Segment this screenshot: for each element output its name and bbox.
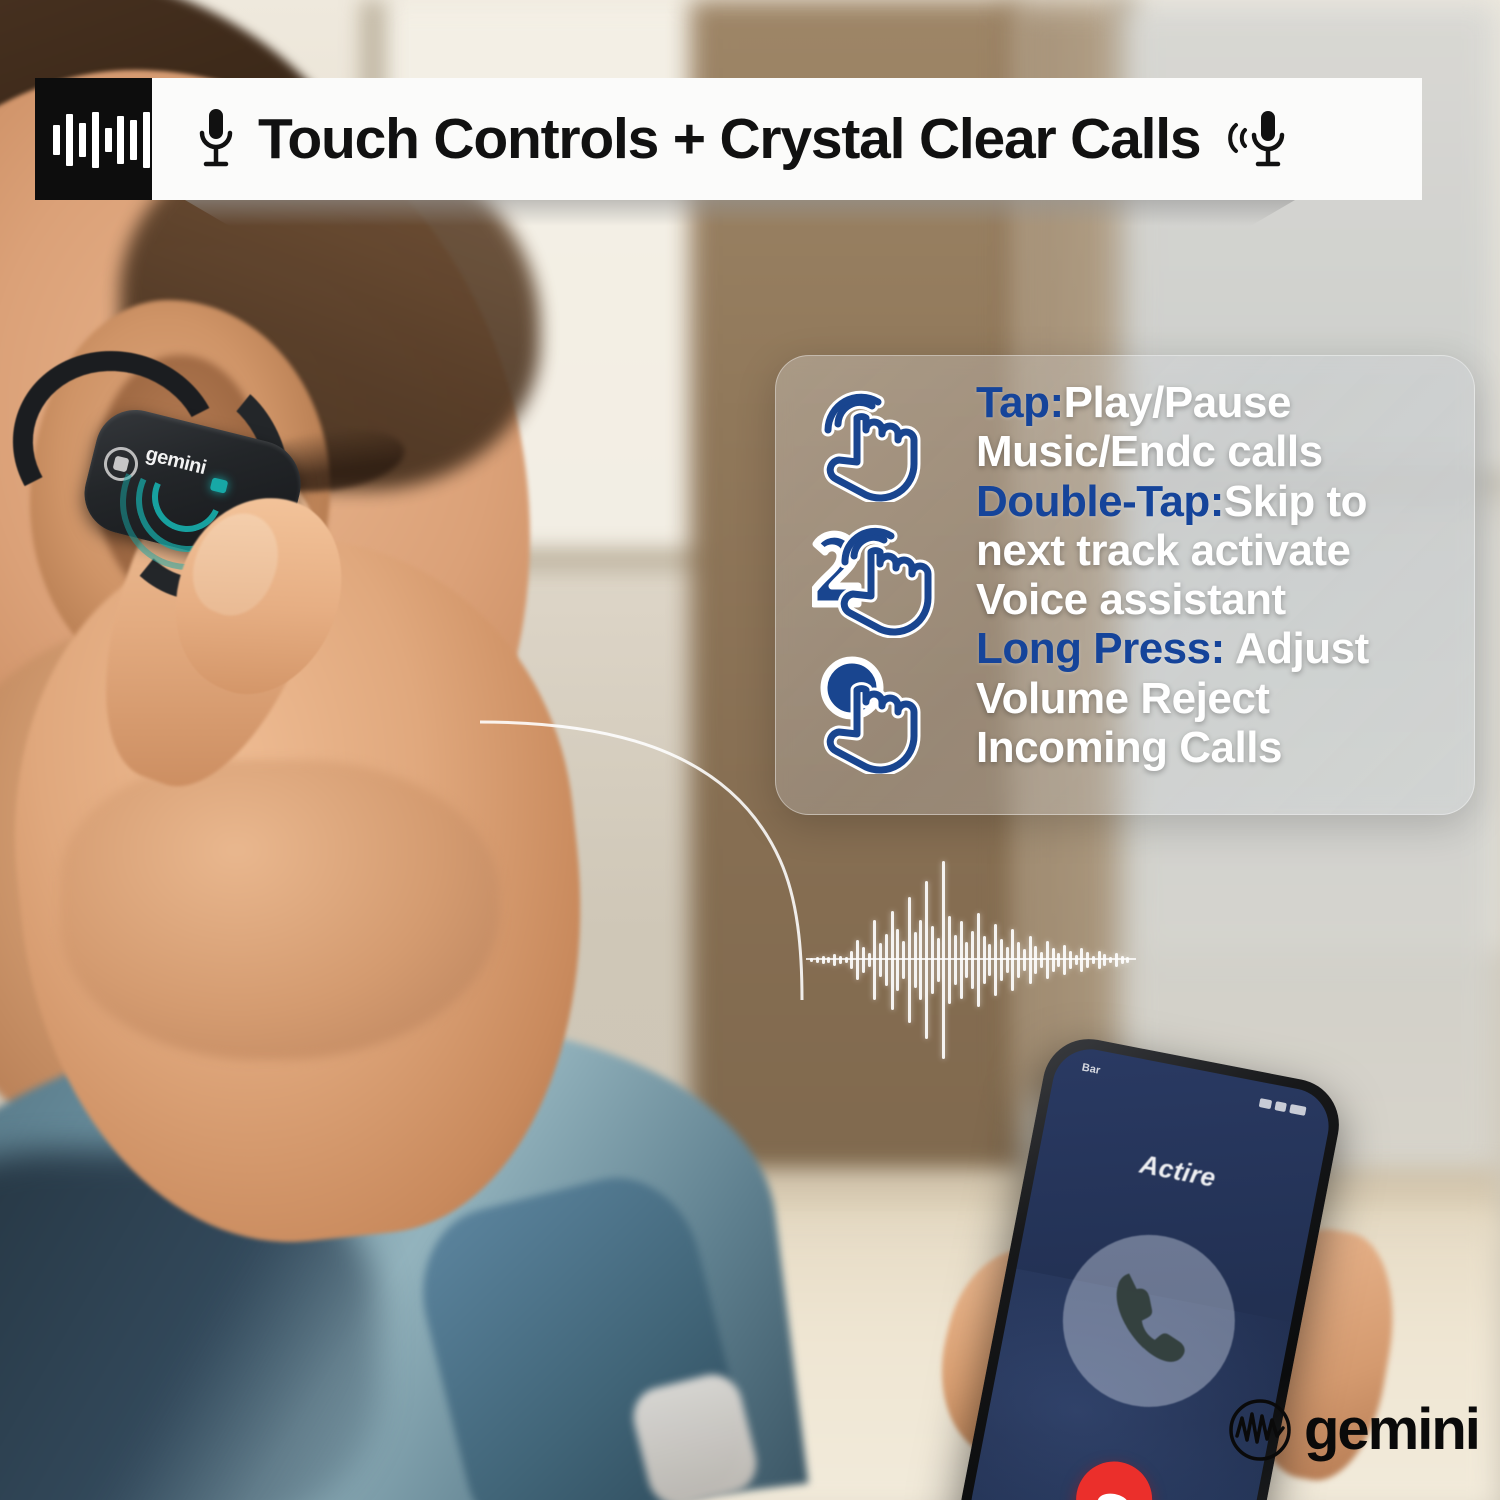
touch-control-label: Long Press: [976,624,1225,673]
waveform-bar [879,943,882,977]
waveform-bar [1011,929,1014,991]
waveform-bar [1000,939,1003,981]
end-call-icon [1088,1474,1140,1500]
equalizer-bars-icon [53,112,163,168]
waveform-bar [833,954,836,966]
banner-title: Touch Controls + Crystal Clear Calls [258,106,1200,172]
touch-control-line: Long Press: Adjust [976,624,1452,673]
brand-name: gemini [1304,1401,1479,1459]
waveform-bar [856,940,859,980]
waveform-bar [925,881,928,1039]
touch-control-text: Play/Pause [1064,378,1291,427]
waveform-bar [868,953,871,966]
waveform-bar [977,913,980,1007]
waveform-bar [845,957,848,962]
touch-control-text: Voice assistant [976,575,1286,624]
waveform-bar [1029,936,1032,985]
waveform-bar [839,956,842,964]
microphone-waves-icon [1226,105,1292,173]
waveform-bar [1109,957,1112,964]
waveform-bar [1006,947,1009,972]
brand-logo: gemini [1228,1398,1479,1462]
waveform-bar [1040,952,1043,969]
waveform-bar [988,944,991,976]
touch-controls-panel: Tap:Play/PauseMusic/Endc callsDouble-Tap… [775,355,1475,815]
waveform-bar [827,957,830,963]
touch-control-line: Volume Reject [976,674,1452,723]
touch-control-line: Incoming Calls [976,723,1452,772]
waveform-bar [954,935,957,985]
waveform-bar [1103,954,1106,966]
waveform-bar [937,938,940,982]
waveform-bar [1098,951,1101,969]
banner-plate: Touch Controls + Crystal Clear Calls [152,78,1422,200]
banner-shadow [185,200,1295,226]
waveform-bar [965,942,968,979]
knuckles [60,760,500,1060]
touch-control-line: next track activate [976,526,1452,575]
waveform-bar [1075,955,1078,965]
audio-waveform-icon [810,860,1130,1060]
product-feature-graphic: gemini Touch [0,0,1500,1500]
wifi-icon [1275,1101,1288,1112]
gemini-waveform-circle-icon [1228,1398,1292,1462]
waveform-bar [971,931,974,990]
touch-control-text: Skip to [1224,477,1367,526]
waveform-bar [942,861,945,1059]
waveform-bar [896,929,899,991]
waveform-bar [1057,953,1060,966]
touch-control-text: next track activate [976,526,1351,575]
touch-control-line: Music/Endc calls [976,427,1452,476]
waveform-bar [873,920,876,1001]
battery-icon [1289,1104,1306,1116]
waveform-bar [885,934,888,986]
waveform-bar [1034,946,1037,975]
waveform-bar [850,951,853,969]
waveform-bar [902,941,905,980]
touch-control-label: Double-Tap: [976,477,1224,526]
long-press-hand-icon [812,656,952,774]
waveform-bar [1063,945,1066,975]
waveform-bar [919,920,922,1001]
waveform-bar [1121,956,1124,964]
phone-handset-icon [1098,1270,1199,1371]
waveform-bar [960,921,963,998]
waveform-bar [908,897,911,1023]
waveform-bar [1126,957,1129,962]
waveform-bar [1046,941,1049,980]
touch-control-line: Double-Tap:Skip to [976,477,1452,526]
waveform-bar [914,932,917,987]
waveform-bar [1069,951,1072,969]
signal-icon [1259,1098,1272,1109]
waveform-bar [1017,942,1020,977]
waveform-bar [983,936,986,985]
waveform-bar [810,958,813,961]
waveform-bar [1086,952,1089,967]
touch-control-line: Voice assistant [976,575,1452,624]
waveform-bar [948,916,951,1003]
touch-control-line: Tap:Play/Pause [976,378,1452,427]
status-icons [1259,1098,1307,1116]
waveform-bar [816,957,819,962]
waveform-bar [994,924,997,996]
touch-control-text: Volume Reject [976,674,1269,723]
double-tap-hand-icon [812,520,952,638]
waveform-bar [1023,949,1026,971]
waveform-bar [1080,948,1083,971]
carrier-label: Bar [1081,1062,1101,1077]
waveform-bar [931,926,934,995]
waveform-bar [822,956,825,964]
touch-control-text: Music/Endc calls [976,427,1323,476]
waveform-bar [1092,956,1095,964]
touch-control-text: Adjust [1225,624,1369,673]
waveform-bar [1052,948,1055,971]
call-status-title: Actire [1038,1129,1319,1213]
microphone-icon [194,105,238,173]
touch-control-text: Incoming Calls [976,723,1282,772]
touch-controls-copy: Tap:Play/PauseMusic/Endc callsDouble-Tap… [976,374,1452,772]
waveform-bar [1115,953,1118,966]
touch-control-label: Tap: [976,378,1064,427]
waveform-bar [862,947,865,972]
waveform-bar [891,911,894,1010]
single-tap-hand-icon [812,384,952,502]
gesture-icon-column [802,374,962,774]
